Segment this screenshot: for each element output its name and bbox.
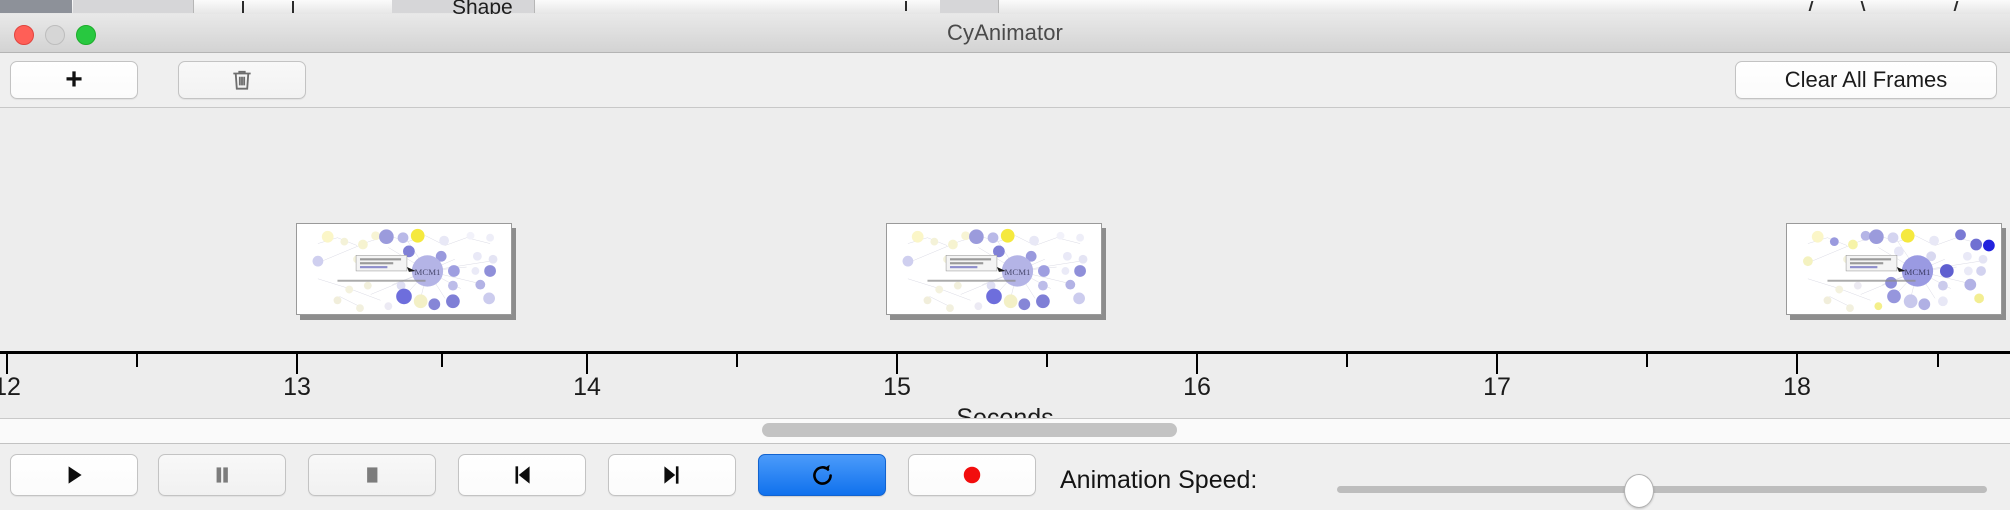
timeline-axis — [0, 351, 2010, 354]
network-thumbnail-icon: MCM1 — [887, 224, 1101, 314]
animation-speed-label: Animation Speed: — [1060, 466, 1257, 495]
slider-thumb[interactable] — [1624, 474, 1654, 508]
background-window-chip — [940, 0, 999, 13]
axis-tick-label: 16 — [1183, 373, 1211, 402]
timeline-frame[interactable]: MCM1 — [886, 223, 1106, 318]
background-window-chip-dark — [0, 0, 72, 13]
svg-text:MCM1: MCM1 — [1905, 267, 1931, 277]
background-window-mark — [242, 1, 244, 13]
frame-thumbnail[interactable]: MCM1 — [296, 223, 512, 315]
axis-title: Seconds — [0, 404, 2010, 419]
axis-minor-tick — [1346, 354, 1348, 367]
timeline-canvas: MCM1 — [0, 108, 2010, 418]
axis-major-tick — [1496, 354, 1498, 374]
svg-text:MCM1: MCM1 — [415, 267, 441, 277]
scrollbar-thumb[interactable] — [762, 423, 1177, 437]
timeline-frame[interactable]: MCM1 — [296, 223, 516, 318]
axis-tick-label: 17 — [1483, 373, 1511, 402]
stop-icon — [359, 462, 385, 488]
skip-end-button[interactable] — [608, 454, 736, 496]
plus-icon: + — [65, 65, 83, 95]
axis-tick-label: 13 — [283, 373, 311, 402]
axis-major-tick — [1196, 354, 1198, 374]
loop-icon — [809, 462, 836, 489]
frame-thumbnail[interactable]: MCM1 — [886, 223, 1102, 315]
cyanimator-window: Shape CyAnimator + Clear All Frames — [0, 0, 2010, 510]
play-button[interactable] — [10, 454, 138, 496]
background-window-mark — [1861, 1, 1866, 11]
skip-to-start-icon — [509, 462, 535, 488]
animation-speed-slider[interactable] — [1337, 486, 1987, 493]
title-bar[interactable]: CyAnimator — [0, 14, 2010, 53]
network-thumbnail-icon: MCM1 — [1787, 224, 2001, 314]
clear-all-frames-button[interactable]: Clear All Frames — [1735, 61, 1997, 99]
axis-minor-tick — [1937, 354, 1939, 367]
timeline-frame[interactable]: MCM1 — [1786, 223, 2006, 318]
frame-toolbar: + Clear All Frames — [0, 53, 2010, 108]
loop-button[interactable] — [758, 454, 886, 496]
axis-major-tick — [296, 354, 298, 374]
transport-bar: Animation Speed: — [0, 444, 2010, 510]
timeline-panel[interactable]: MCM1 — [0, 108, 2010, 419]
pause-icon — [209, 462, 235, 488]
axis-major-tick — [6, 354, 8, 374]
axis-tick-label: 15 — [883, 373, 911, 402]
frame-thumbnail[interactable]: MCM1 — [1786, 223, 2002, 315]
axis-major-tick — [896, 354, 898, 374]
network-thumbnail-icon: MCM1 — [297, 224, 511, 314]
background-window-mark — [292, 1, 294, 13]
axis-major-tick — [1796, 354, 1798, 374]
background-window-mark — [905, 1, 907, 11]
timeline-scrollbar[interactable] — [0, 419, 2010, 444]
background-window-chip — [73, 0, 194, 13]
add-frame-button[interactable]: + — [10, 61, 138, 99]
axis-minor-tick — [1646, 354, 1648, 367]
axis-tick-label: 12 — [0, 373, 21, 402]
background-window-label: Shape — [452, 0, 513, 15]
record-icon — [959, 462, 985, 488]
background-window-mark — [1954, 1, 1959, 11]
pause-button[interactable] — [158, 454, 286, 496]
svg-text:MCM1: MCM1 — [1005, 267, 1031, 277]
skip-to-end-icon — [659, 462, 685, 488]
stop-button[interactable] — [308, 454, 436, 496]
axis-minor-tick — [136, 354, 138, 367]
axis-minor-tick — [441, 354, 443, 367]
trash-icon — [229, 67, 255, 93]
delete-frame-button[interactable] — [178, 61, 306, 99]
axis-minor-tick — [1046, 354, 1048, 367]
play-icon — [61, 462, 87, 488]
background-window-strip: Shape — [0, 0, 2010, 15]
axis-tick-label: 14 — [573, 373, 601, 402]
background-window-mark — [1809, 1, 1814, 11]
skip-start-button[interactable] — [458, 454, 586, 496]
axis-tick-label: 18 — [1783, 373, 1811, 402]
record-button[interactable] — [908, 454, 1036, 496]
axis-major-tick — [586, 354, 588, 374]
window-title: CyAnimator — [0, 14, 2010, 52]
slider-track[interactable] — [1337, 486, 1987, 493]
axis-minor-tick — [736, 354, 738, 367]
